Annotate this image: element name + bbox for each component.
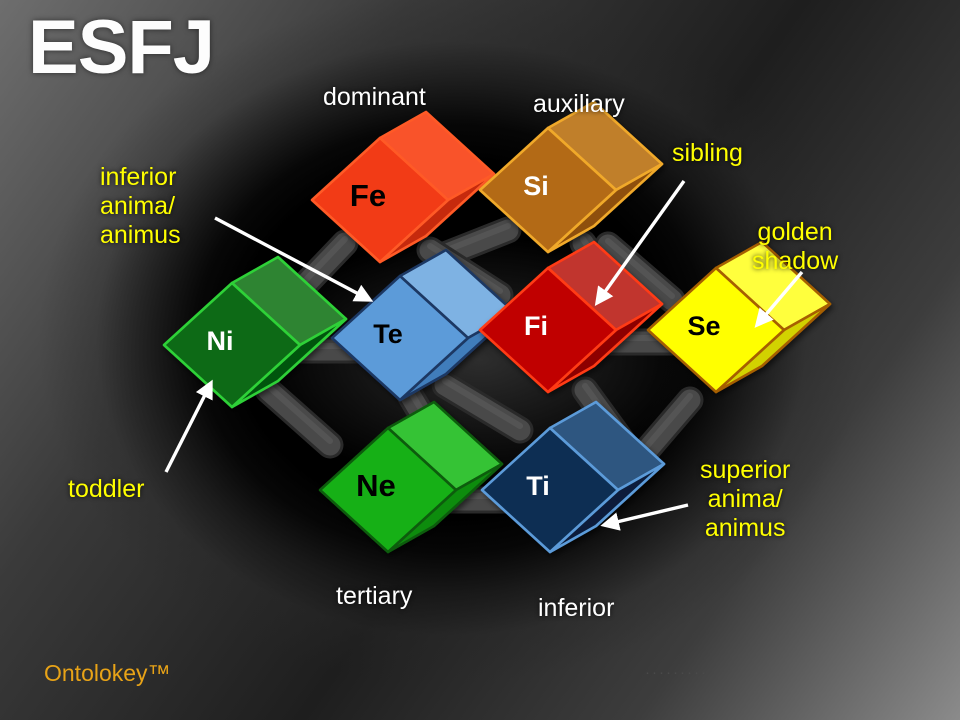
cube-Ne[interactable]: Ne <box>320 402 502 552</box>
cube-Ni-label: Ni <box>207 326 234 356</box>
cube-Ne-label: Ne <box>356 468 396 503</box>
slide-canvas: FeSiNiTeFiSeNeTi ESFJ dominantauxiliaryt… <box>0 0 960 720</box>
arrow-to-ni <box>166 383 211 472</box>
cube-Se-label: Se <box>687 311 720 341</box>
cube-Se[interactable]: Se <box>648 242 830 392</box>
cube-Ti-label: Ti <box>526 471 550 501</box>
cube-Te-label: Te <box>373 319 403 349</box>
cube-Si-label: Si <box>523 171 549 201</box>
cube-lattice-diagram: FeSiNiTeFiSeNeTi <box>0 0 960 720</box>
cube-Fe-label: Fe <box>350 178 386 213</box>
cube-layer: FeSiNiTeFiSeNeTi <box>164 102 830 552</box>
cube-Fi-label: Fi <box>524 311 548 341</box>
